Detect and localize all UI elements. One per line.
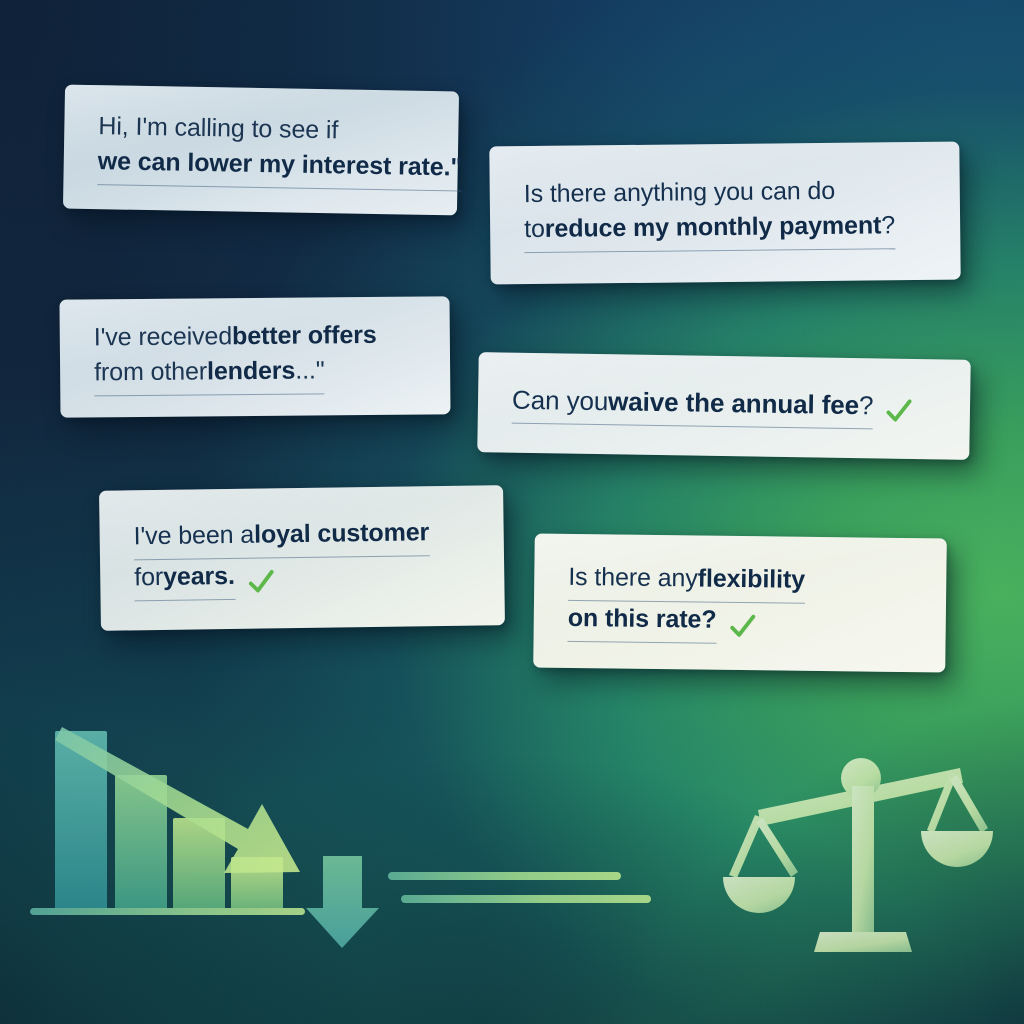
quote-plain: Is there any: [568, 560, 698, 597]
quote-plain: Hi, I'm calling to see if: [98, 109, 338, 148]
quote-plain: ?: [881, 208, 895, 243]
quote-card-reduce-monthly-payment[interactable]: Is there anything you can doto reduce my…: [489, 142, 960, 285]
quote-text: Hi, I'm calling to see if: [98, 109, 338, 148]
quote-plain: to: [524, 212, 545, 247]
quote-line: Can you waive the annual fee?: [512, 381, 937, 430]
quote-card-loyal-customer[interactable]: I've been a loyal customerfor years.: [99, 485, 505, 631]
quote-plain: I've received: [94, 319, 233, 355]
quote-line: from other lenders...": [94, 353, 416, 397]
quote-emphasis: lenders: [207, 354, 296, 390]
quote-line: I've received better offers: [94, 318, 416, 356]
quote-text: Is there any flexibility: [568, 560, 805, 604]
quote-plain: from other: [94, 354, 207, 390]
quote-plain: Is there anything you can do: [524, 174, 836, 212]
quote-line: Is there anything you can do: [524, 173, 926, 212]
quote-emphasis: better offers: [232, 318, 377, 354]
green-checkmark-icon: [885, 398, 913, 426]
quote-emphasis: on this rate?: [568, 601, 717, 638]
quote-text: for years.: [134, 559, 235, 601]
green-checkmark-icon: [247, 568, 275, 596]
illustration-canvas: Hi, I'm calling to see ifwe can lower my…: [0, 0, 1024, 1024]
quote-plain: Can you: [512, 381, 609, 419]
quote-emphasis: years.: [163, 559, 235, 595]
quote-line: on this rate?: [568, 601, 912, 646]
quote-text: on this rate?: [568, 601, 717, 644]
green-checkmark-icon: [728, 612, 756, 640]
quote-line: Hi, I'm calling to see if: [98, 109, 425, 150]
quote-text: I've been a loyal customer: [133, 515, 429, 560]
quote-emphasis: reduce my monthly payment: [545, 208, 882, 247]
quote-card-lower-interest-rate[interactable]: Hi, I'm calling to see ifwe can lower my…: [63, 85, 459, 216]
quote-plain: ...": [295, 353, 325, 388]
quote-text: I've received better offers: [94, 318, 377, 355]
quote-line: to reduce my monthly payment?: [524, 208, 926, 253]
quote-line: I've been a loyal customer: [133, 515, 470, 561]
quote-text: Can you waive the annual fee?: [512, 381, 874, 429]
quote-card-rate-flexibility[interactable]: Is there any flexibilityon this rate?: [533, 533, 947, 672]
quote-card-waive-annual-fee[interactable]: Can you waive the annual fee?: [477, 352, 971, 460]
green-checkmark: [728, 612, 756, 640]
quote-emphasis: waive the annual fee: [608, 383, 859, 423]
quote-emphasis: we can lower my interest rate.": [97, 144, 462, 185]
quote-line: for years.: [134, 556, 471, 602]
quote-plain: ?: [859, 387, 874, 424]
quote-text: from other lenders...": [94, 353, 325, 396]
quote-text: Is there anything you can do: [524, 174, 836, 212]
quote-plain: I've been a: [133, 518, 254, 555]
quote-line: we can lower my interest rate.": [97, 144, 424, 191]
quote-plain: for: [134, 560, 163, 595]
quote-emphasis: loyal customer: [254, 515, 430, 552]
green-checkmark: [885, 398, 913, 426]
quote-card-better-offers[interactable]: I've received better offersfrom other le…: [59, 296, 450, 417]
quote-line: Is there any flexibility: [568, 560, 912, 605]
quote-text: to reduce my monthly payment?: [524, 208, 895, 253]
quote-emphasis: flexibility: [698, 561, 806, 597]
quote-text: we can lower my interest rate.": [97, 144, 462, 191]
green-checkmark: [247, 568, 275, 596]
